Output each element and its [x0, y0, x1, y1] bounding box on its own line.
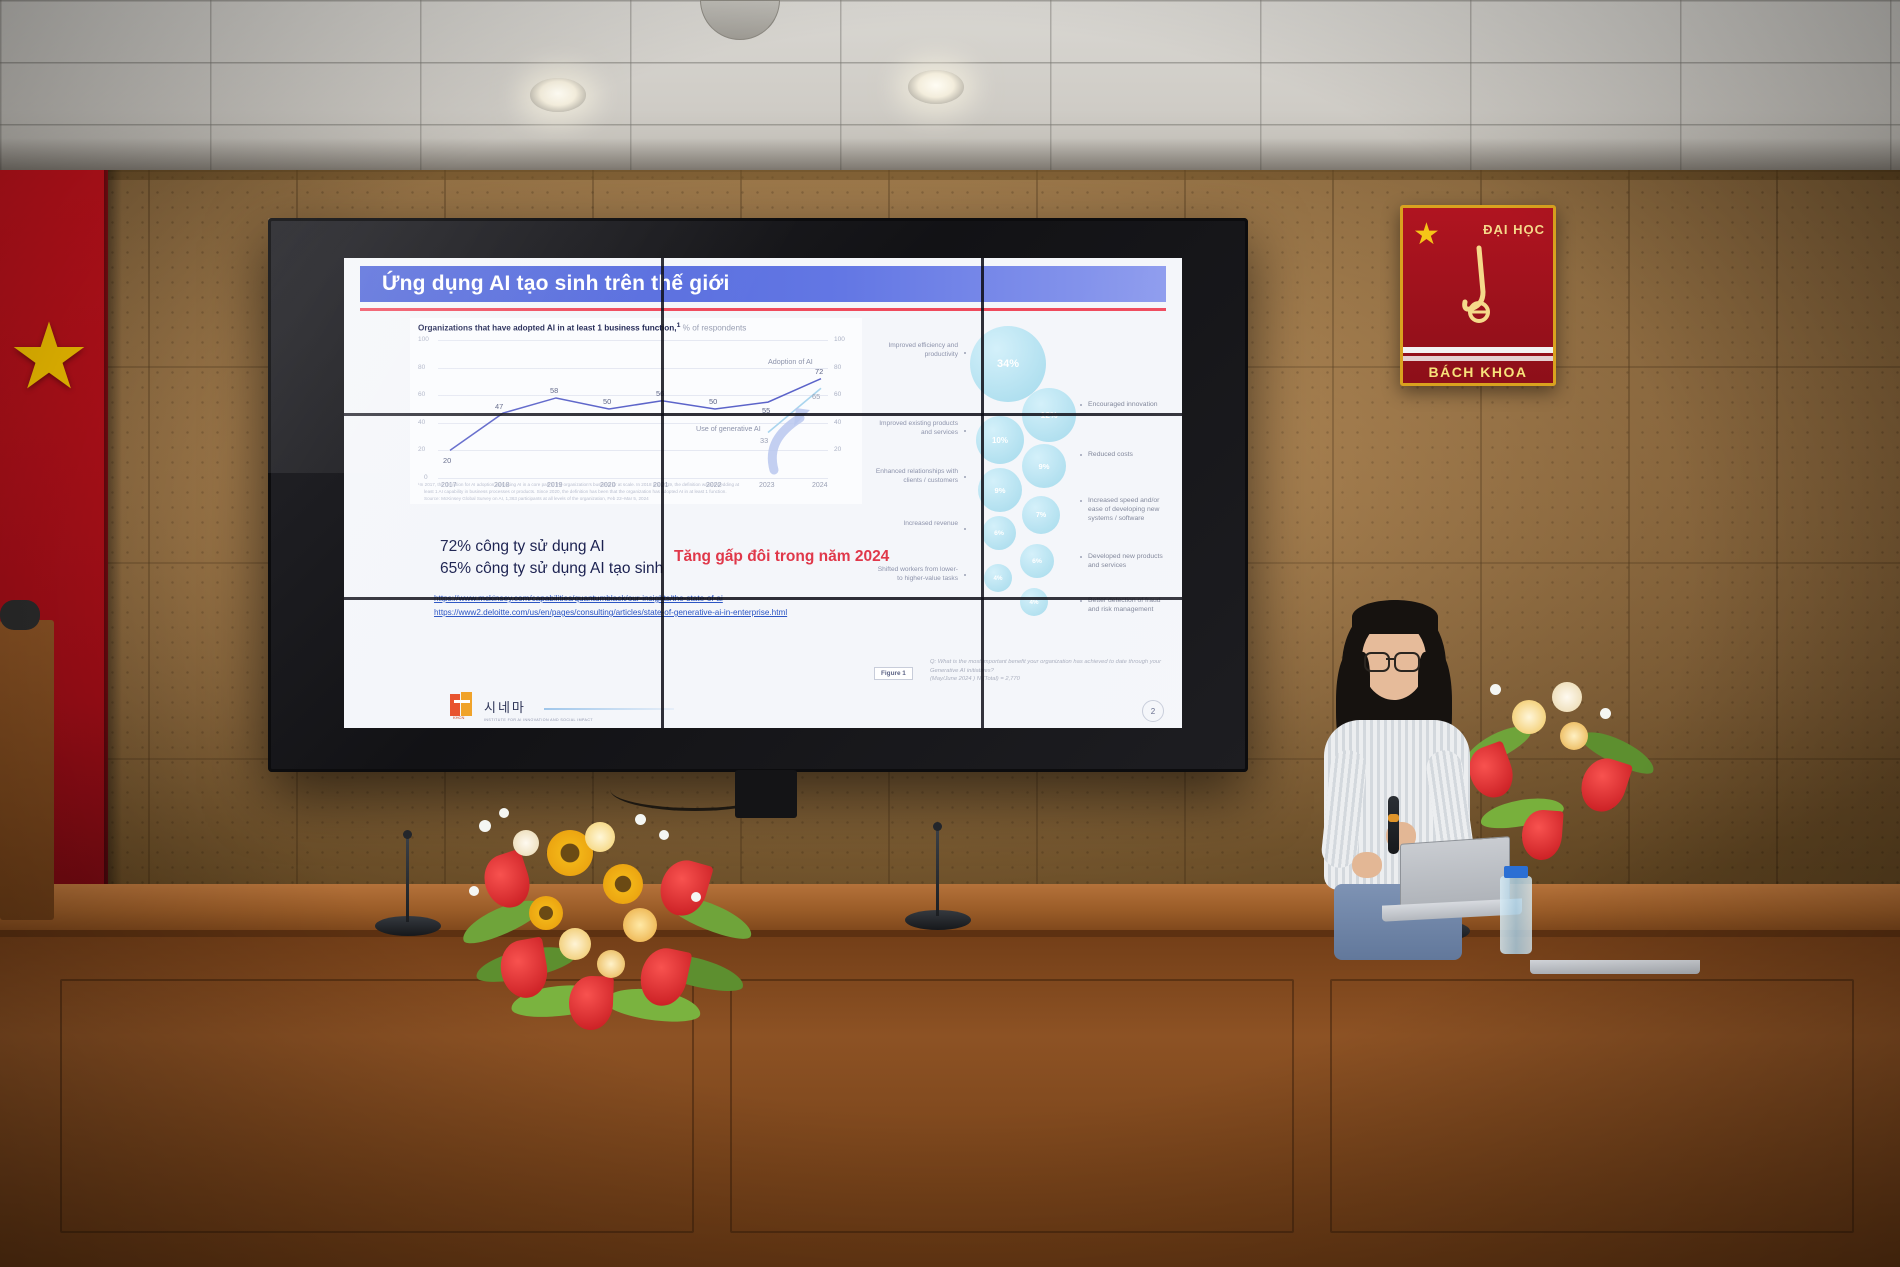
bubble-chart: 34% 12% 10% 9% 9% 7% 6% 6% 4% 4% Improve… — [874, 316, 1166, 686]
slide-title: Ứng dụng AI tạo sinh trên thế giới — [382, 272, 730, 296]
emblem-band — [1403, 356, 1553, 361]
ceiling-downlight — [530, 78, 586, 112]
data-label: 47 — [495, 402, 503, 411]
bubble-label: Improved efficiency and productivity — [874, 342, 958, 360]
panel-seam-vertical — [981, 258, 984, 728]
x-tick: 2023 — [759, 482, 775, 489]
y-tick-left: 80 — [418, 364, 425, 371]
bubble: 6% — [982, 516, 1016, 550]
y-tick-left: 40 — [418, 419, 425, 426]
emblem-top-text: ĐẠI HỌC — [1483, 222, 1545, 237]
institute-subtitle: INSTITUTE FOR AI INNOVATION AND SOCIAL I… — [484, 718, 593, 722]
figure-question: Q: What is the most important benefit yo… — [930, 658, 1166, 684]
podium — [0, 620, 54, 920]
footer-rule — [544, 708, 674, 710]
flower-arrangement-center — [455, 800, 755, 1030]
bubble: 9% — [1022, 444, 1066, 488]
emblem-band — [1403, 347, 1553, 353]
stat-line-1: 72% công ty sử dụng AI — [440, 538, 605, 556]
y-tick-left: 60 — [418, 391, 425, 398]
left-hand — [1352, 852, 1382, 878]
highlight-text: Tăng gấp đôi trong năm 2024 — [674, 548, 889, 566]
institute-logo-icon: KHCN — [448, 690, 476, 720]
institute-wordmark: 시네마 — [484, 697, 526, 716]
slide-accent-rule — [360, 308, 1166, 311]
conference-desk-front — [0, 937, 1900, 1267]
bubble-label: Developed new products and services — [1088, 552, 1168, 570]
desk-panel — [1330, 979, 1854, 1233]
yellow-star-icon: ★ — [6, 315, 92, 399]
chart-footnote: least 1 AI capability in business proces… — [424, 489, 727, 496]
bubble-label: Reduced costs — [1088, 450, 1168, 459]
y-tick-right: 20 — [834, 446, 841, 453]
source-link-deloitte[interactable]: https://www2.deloitte.com/us/en/pages/co… — [434, 608, 787, 617]
series-label-adoption: Adoption of AI — [768, 357, 813, 366]
line-chart-title: Organizations that have adopted AI in at… — [418, 322, 746, 333]
bubble-label: Improved existing products and services — [874, 420, 958, 438]
y-tick-right: 100 — [834, 336, 845, 343]
bubble-label: Increased revenue — [874, 520, 958, 529]
bubble-label: Increased speed and/or ease of developin… — [1088, 496, 1168, 524]
slide-content: Ứng dụng AI tạo sinh trên thế giới Organ… — [344, 258, 1182, 728]
laptop-second[interactable] — [1530, 960, 1700, 974]
y-tick-left: 0 — [424, 474, 428, 481]
emblem-name: BÁCH KHOA — [1403, 364, 1553, 380]
data-label: 65 — [812, 392, 820, 401]
line-chart: Organizations that have adopted AI in at… — [410, 318, 862, 504]
university-emblem: ★ ĐẠI HỌC BÁCH KHOA — [1400, 205, 1556, 386]
handheld-microphone[interactable] — [1388, 796, 1399, 854]
y-tick-left: 100 — [418, 336, 429, 343]
bubble-label: Enhanced relationships with clients / cu… — [874, 468, 958, 486]
x-tick: 2024 — [812, 482, 828, 489]
bubble-label: Shifted workers from lower- to higher-va… — [874, 566, 958, 584]
glasses-left-lens-icon — [1364, 652, 1390, 672]
series-label-genai: Use of generative AI — [696, 424, 761, 433]
bubble: 9% — [978, 468, 1022, 512]
y-tick-right: 80 — [834, 364, 841, 371]
data-label: 50 — [603, 397, 611, 406]
figure-tag: Figure 1 — [874, 667, 913, 680]
bubble: 4% — [984, 564, 1012, 592]
hair-fringe — [1352, 600, 1438, 634]
bubble: 6% — [1020, 544, 1054, 578]
data-label: 58 — [550, 386, 558, 395]
data-label: 72 — [815, 367, 823, 376]
water-bottle — [1500, 876, 1532, 954]
slide-page-number: 2 — [1142, 700, 1164, 722]
chart-source: Source: McKinsey Global Survey on AI, 1,… — [424, 496, 649, 503]
bubble: 4% — [1020, 588, 1048, 616]
svg-text:KHCN: KHCN — [453, 715, 464, 720]
data-label: 33 — [760, 436, 768, 445]
glasses-right-lens-icon — [1394, 652, 1420, 672]
panel-seam-horizontal — [344, 597, 1182, 600]
ceiling — [0, 0, 1900, 182]
bottle-cap — [1504, 866, 1528, 878]
panel-seam-vertical — [661, 258, 664, 728]
y-tick-right: 40 — [834, 419, 841, 426]
y-tick-right: 60 — [834, 391, 841, 398]
chart-footnote: ¹In 2017, the definition for AI adoption… — [418, 482, 739, 489]
slide-title-bar: Ứng dụng AI tạo sinh trên thế giới — [360, 266, 1166, 302]
emblem-star-icon: ★ — [1413, 220, 1440, 250]
figure-question-text: Q: What is the most important benefit yo… — [930, 658, 1166, 675]
data-label: 20 — [443, 456, 451, 465]
emblem-figure-icon — [1449, 242, 1507, 330]
conference-room-scene: ★ ★ ĐẠI HỌC BÁCH KHOA Ứng dụng AI tạo si… — [0, 0, 1900, 1267]
bubble: 7% — [1022, 496, 1060, 534]
conference-desk-edge — [0, 930, 1900, 937]
wall-edge-shadow — [104, 170, 122, 930]
y-tick-left: 20 — [418, 446, 425, 453]
desk-panel — [730, 979, 1294, 1233]
data-label: 50 — [709, 397, 717, 406]
line-chart-plot: 100 80 60 40 20 0 100 80 60 40 20 — [438, 340, 828, 478]
ceiling-downlight — [908, 70, 964, 104]
bubble-label: Encouraged innovation — [1088, 400, 1168, 409]
podium-lamp — [0, 600, 40, 630]
glasses-bridge-icon — [1386, 658, 1394, 660]
panel-seam-horizontal — [344, 413, 1182, 416]
presentation-slide[interactable]: Ứng dụng AI tạo sinh trên thế giới Organ… — [344, 258, 1182, 728]
microphone-band — [1388, 814, 1399, 822]
video-wall-display[interactable]: Ứng dụng AI tạo sinh trên thế giới Organ… — [268, 218, 1248, 772]
stat-line-2: 65% công ty sử dụng AI tạo sinh — [440, 560, 663, 578]
figure-sample-size: (May/June 2024 ) N (Total) = 2,770 — [930, 675, 1166, 684]
